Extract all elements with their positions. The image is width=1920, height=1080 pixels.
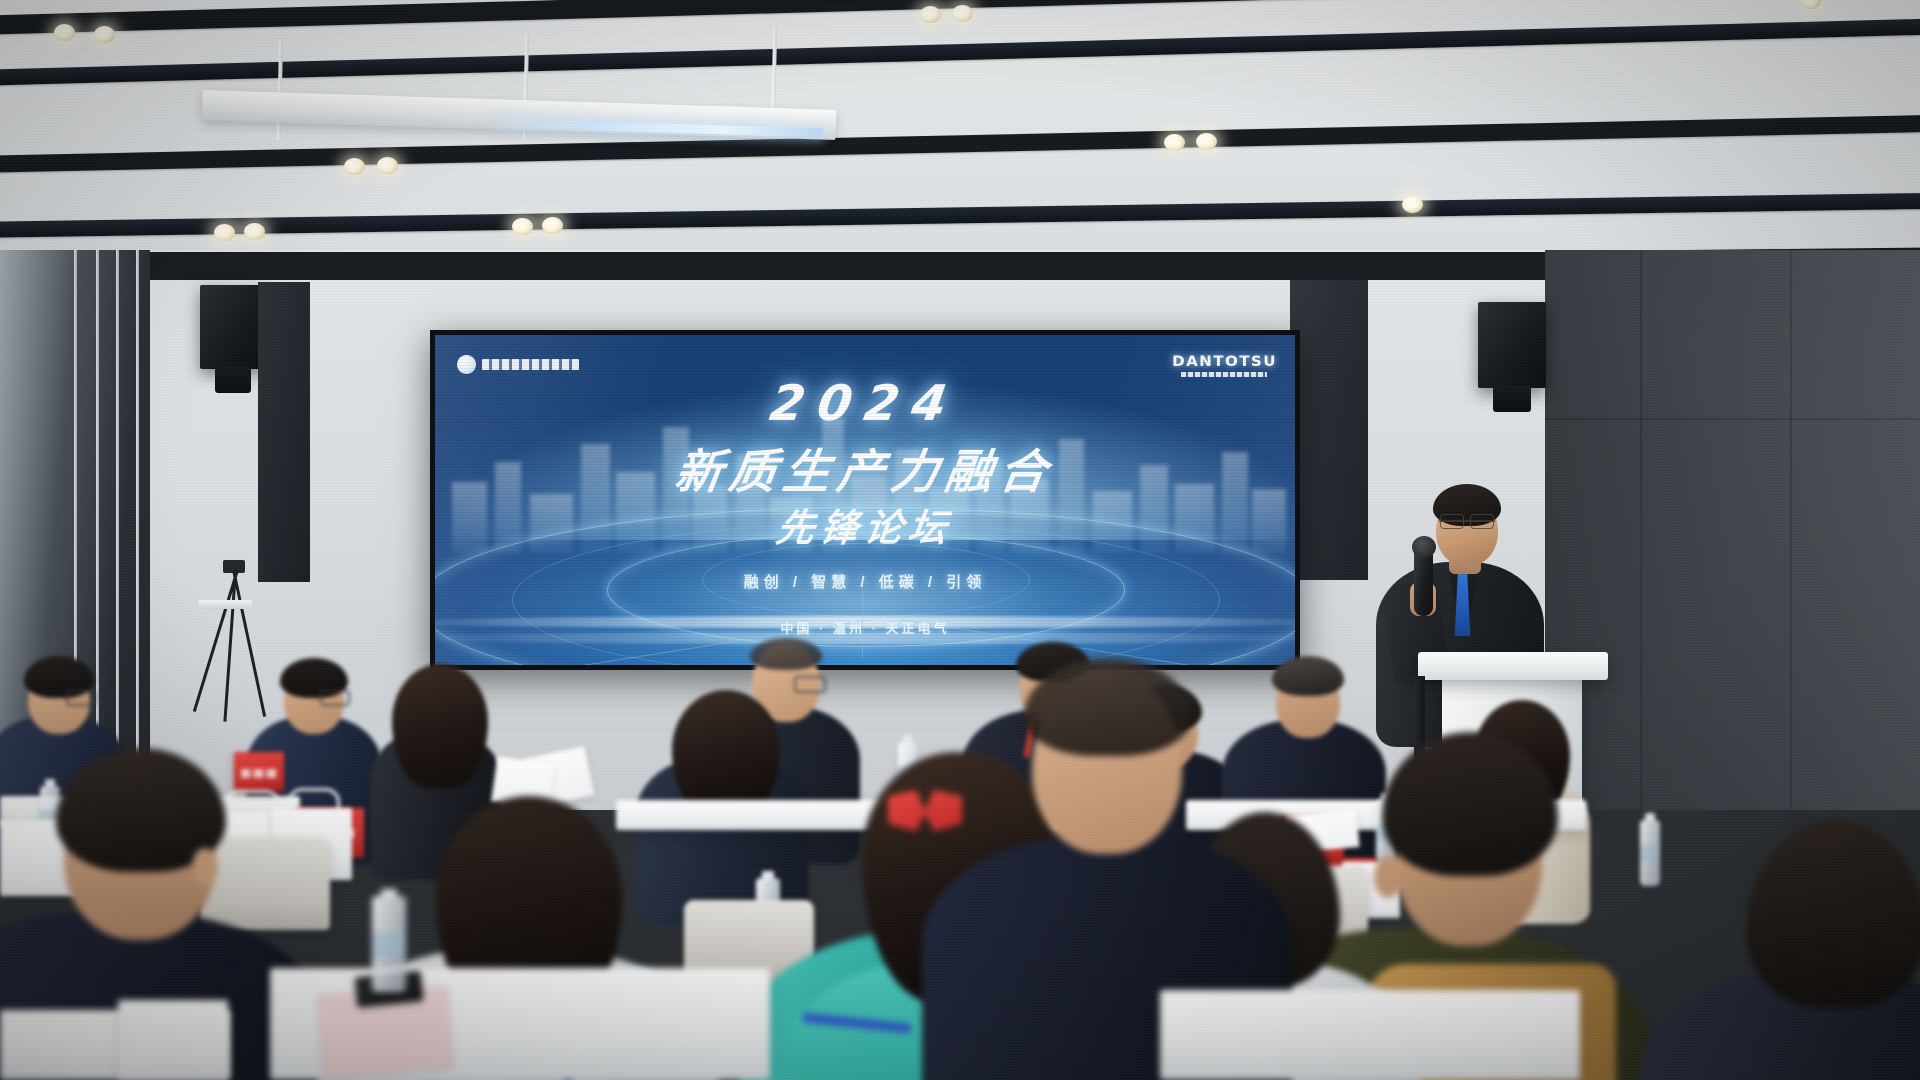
gift-box-label (241, 769, 277, 778)
right-wall-speaker (1478, 302, 1546, 388)
speaker-mount (1493, 386, 1531, 412)
ceiling-spotlight (214, 224, 235, 241)
wall-panel-seam (1545, 418, 1920, 420)
right-column-dark (1290, 280, 1368, 580)
ceiling-spotlight (542, 217, 563, 234)
bottle-cap (381, 889, 397, 897)
ceiling-spotlight (1402, 196, 1423, 213)
microphone-head-icon (1412, 536, 1436, 558)
left-column-dark (258, 282, 310, 582)
ceiling-spotlight (952, 5, 973, 22)
front-table-right (1160, 990, 1580, 1080)
sponsor-logo-text: DANTOTSU (1172, 354, 1277, 370)
host-logo-mark-icon (457, 355, 476, 374)
screen-year-text: 2024 (435, 375, 1295, 432)
screen-host-logo (457, 355, 579, 374)
ceiling-spotlight (1196, 133, 1217, 150)
ceiling-spotlight (920, 6, 941, 23)
left-wall-speaker (200, 285, 266, 369)
bottle-cap (45, 779, 55, 787)
attendee-glasses-icon (66, 690, 96, 706)
screen-subhead-text: 先锋论坛 (435, 497, 1295, 552)
ceiling-spotlight (344, 158, 365, 175)
attendee-hair (1746, 820, 1920, 1008)
bottle-cap (903, 735, 912, 743)
right-dark-wall-panel (1545, 250, 1920, 810)
attendee-ear (1374, 856, 1402, 898)
tripod-shelf (198, 600, 252, 609)
speaker-mount (215, 367, 252, 393)
bottle-label (372, 932, 406, 957)
podium-top-surface (1418, 652, 1608, 680)
screen-content: DANTOTSU 2024 新质生产力融合 先锋论坛 融创 / 智慧 / 低碳 … (435, 335, 1295, 665)
screen-location-text: 中国 · 温州 · 天正电气 (435, 618, 1295, 637)
bottle-cap (762, 871, 774, 879)
partition-frame (116, 250, 119, 810)
bottle-label (1640, 845, 1660, 862)
water-bottle (1640, 820, 1660, 886)
water-bottle (372, 896, 406, 992)
chair-back (200, 838, 330, 930)
partition-frame (136, 250, 139, 810)
host-logo-wordmark (482, 359, 579, 370)
red-gift-box (234, 752, 284, 792)
screen-tagline-text: 融创 / 智慧 / 低碳 / 引领 (435, 571, 1295, 592)
screen-headline-text: 新质生产力融合 (435, 433, 1295, 502)
ceiling-spotlight (54, 24, 75, 41)
bottle-cap (1645, 813, 1655, 821)
attendee-hair-long (392, 664, 488, 788)
presenter-glasses-lens (1470, 514, 1494, 529)
white-tote-bag (118, 1000, 228, 1080)
attendee-glasses-icon (794, 676, 826, 693)
presenter-glasses-lens (1440, 514, 1464, 529)
wall-panel-seam (1790, 250, 1792, 810)
screen-sponsor-logo: DANTOTSU (1176, 354, 1273, 377)
attendee-ear (192, 848, 218, 886)
attendee-glasses-icon (320, 690, 350, 706)
attendee-hair (750, 638, 822, 670)
ceiling-spotlight (1164, 134, 1185, 151)
wall-valance (150, 252, 1550, 280)
tote-handle (288, 788, 340, 813)
ceiling-spotlight (244, 223, 265, 240)
conference-scene: DANTOTSU 2024 新质生产力融合 先锋论坛 融创 / 智慧 / 低碳 … (0, 0, 1920, 1080)
wall-panel-seam (1640, 250, 1642, 810)
led-display-screen: DANTOTSU 2024 新质生产力融合 先锋论坛 融创 / 智慧 / 低碳 … (430, 330, 1300, 670)
ceiling-spotlight (94, 26, 115, 43)
ceiling-spotlight (377, 157, 398, 174)
ceiling-spotlight (512, 218, 533, 235)
attendee-hair (1272, 656, 1344, 696)
